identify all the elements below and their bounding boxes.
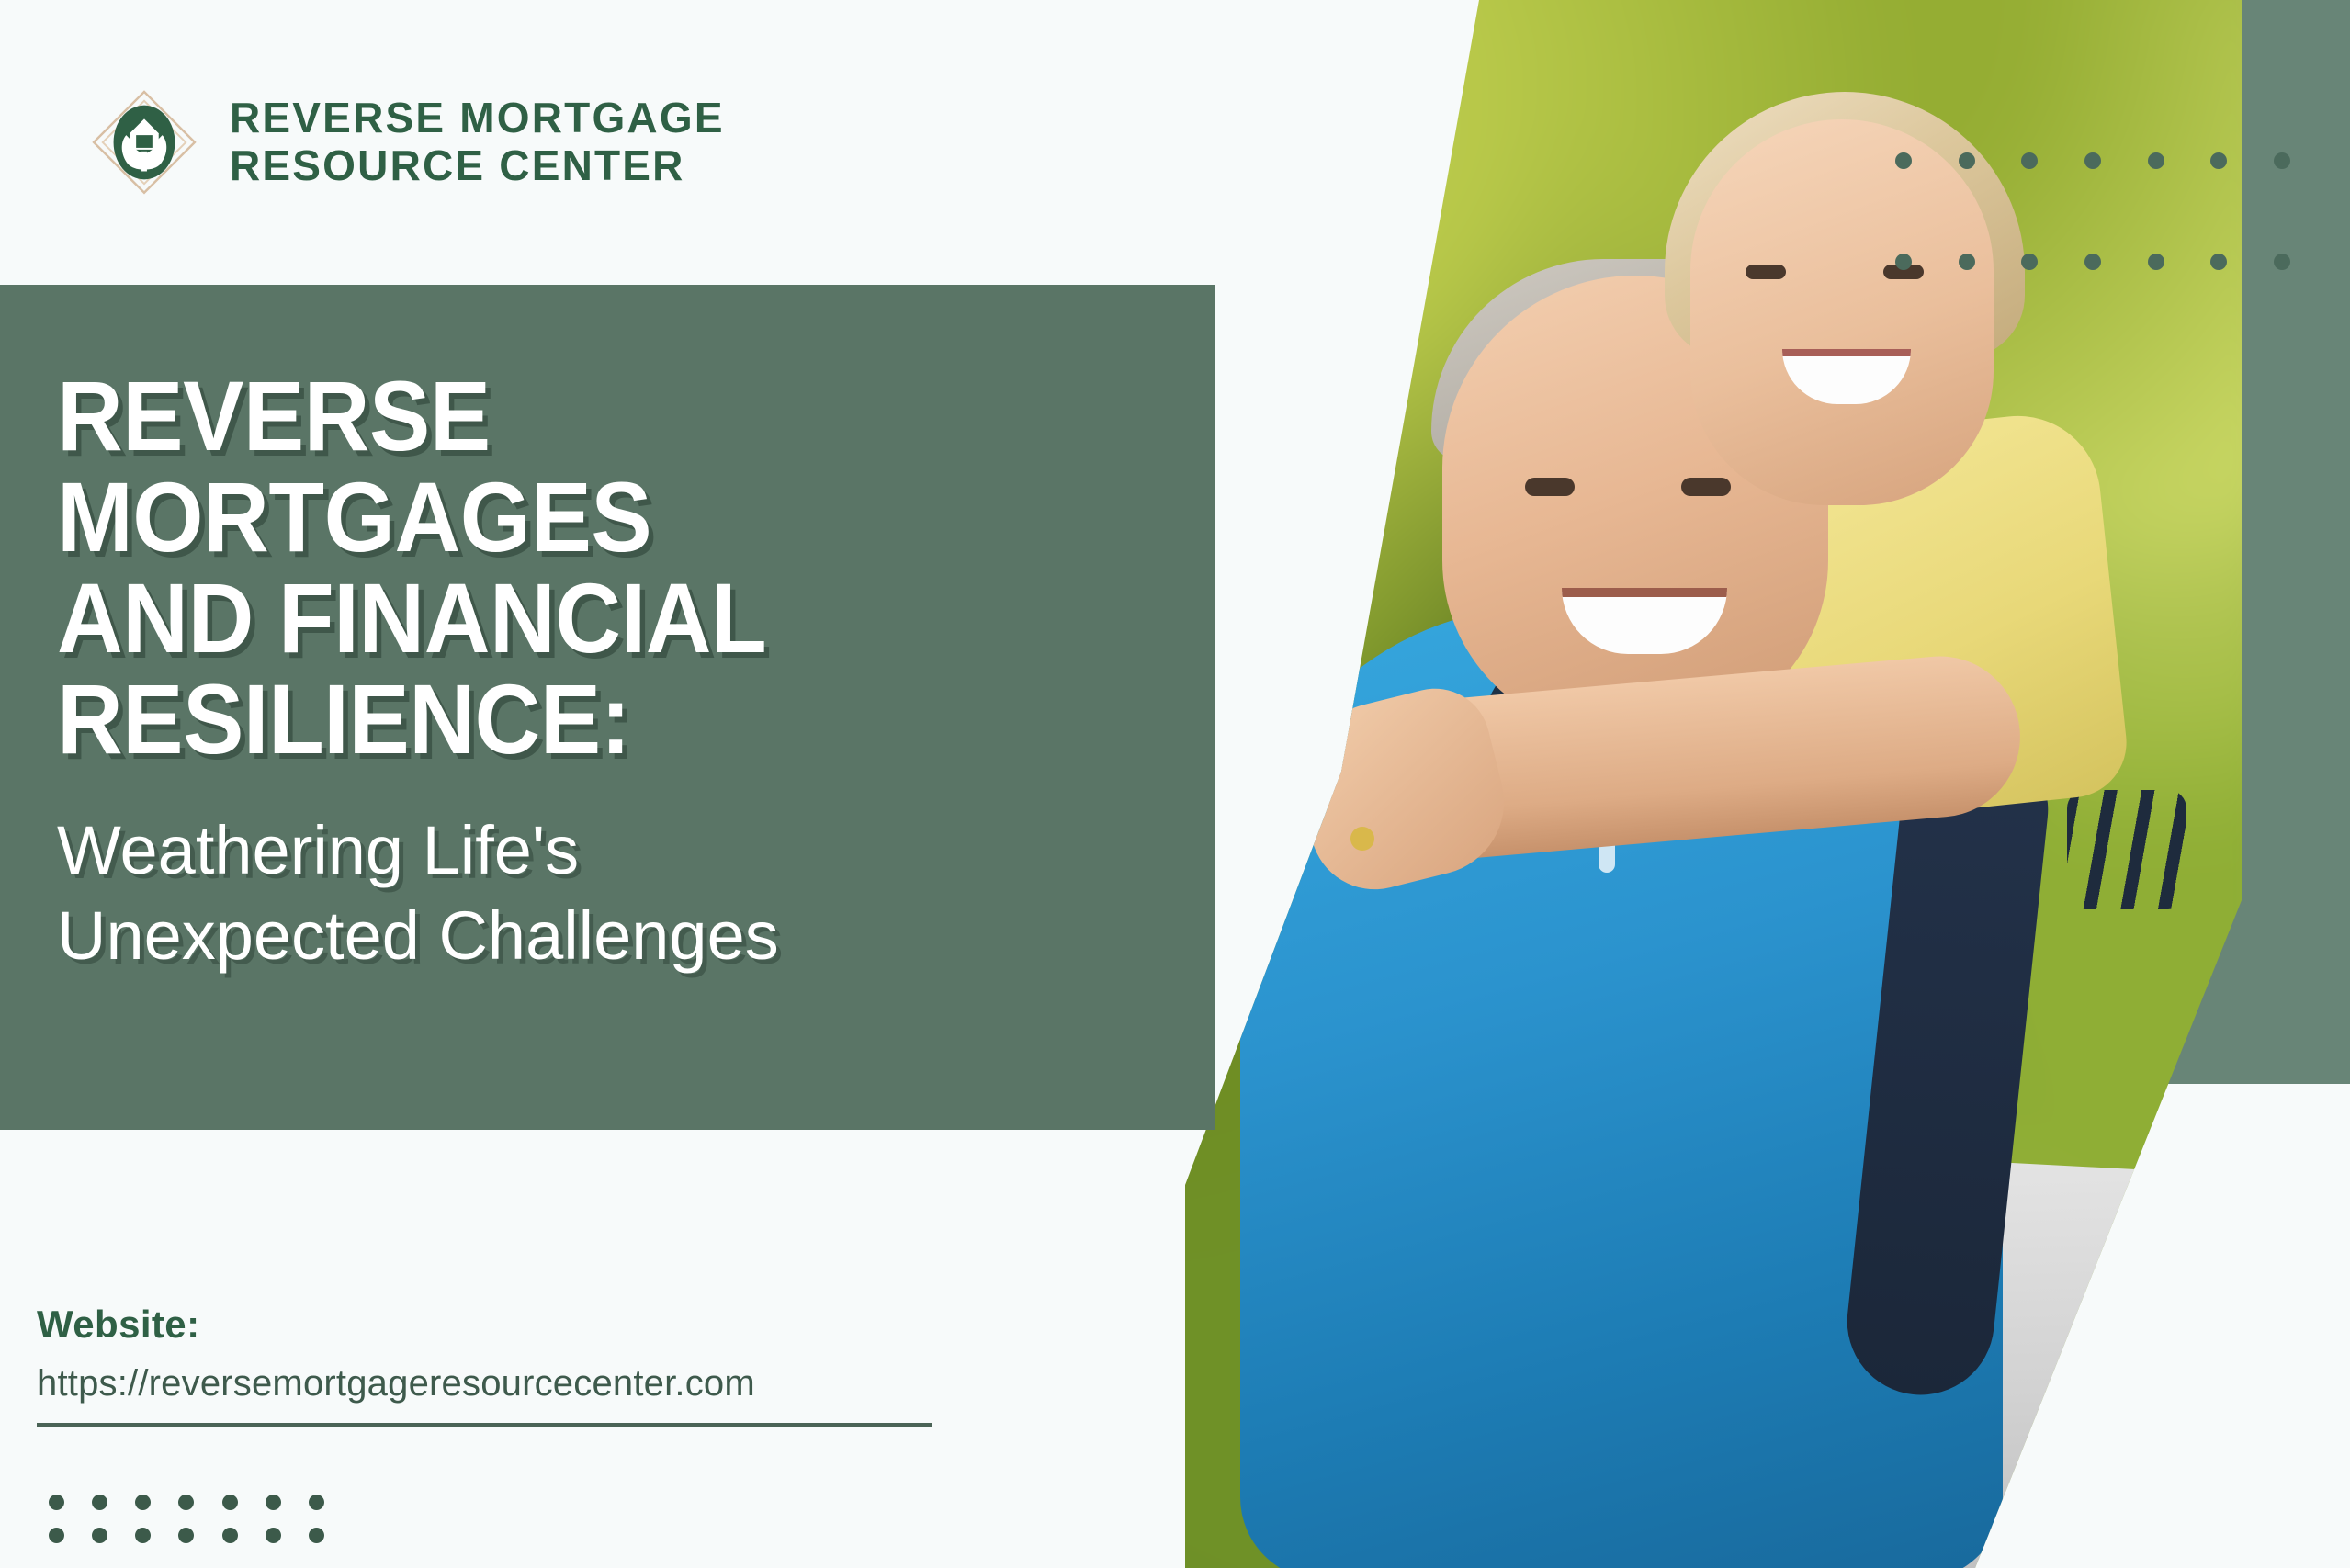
house-in-hands-diamond-logo-icon — [90, 88, 198, 197]
dot-icon — [266, 1528, 281, 1543]
dot-icon — [2274, 254, 2290, 270]
man-eye-left — [1525, 478, 1575, 496]
dot-icon — [309, 1495, 324, 1510]
dot-icon — [178, 1495, 194, 1510]
page-title: REVERSE MORTGAGES AND FINANCIAL RESILIEN… — [57, 366, 1097, 771]
poster-canvas: REVERSE MORTGAGE RESOURCE CENTER REVERSE… — [0, 0, 2350, 1568]
dot-icon — [1959, 254, 1975, 270]
ring-icon — [1350, 827, 1374, 851]
dot-icon — [309, 1528, 324, 1543]
website-label: Website: — [37, 1303, 955, 1347]
top-right-dot-grid — [1872, 110, 2313, 312]
headline-line-2: AND FINANCIAL — [57, 562, 766, 673]
brand-name-line1: REVERSE MORTGAGE — [230, 95, 725, 142]
dot-icon — [2210, 152, 2227, 169]
subtitle-line-1: Weathering Life's — [57, 812, 579, 888]
dot-icon — [2021, 152, 2038, 169]
dot-icon — [2274, 152, 2290, 169]
dot-icon — [135, 1495, 151, 1510]
dot-icon — [1895, 152, 1912, 169]
woman-eye-left — [1746, 265, 1786, 279]
dot-icon — [2084, 152, 2101, 169]
header: REVERSE MORTGAGE RESOURCE CENTER — [0, 0, 1194, 285]
divider — [37, 1423, 932, 1427]
dot-icon — [222, 1528, 238, 1543]
man-eye-right — [1681, 478, 1731, 496]
dot-icon — [2021, 254, 2038, 270]
headline-line-1: REVERSE MORTGAGES — [57, 360, 651, 572]
dot-icon — [92, 1495, 107, 1510]
bottom-left-dot-grid — [35, 1485, 338, 1551]
subtitle-line-2: Unexpected Challenges — [57, 897, 779, 974]
dot-icon — [178, 1528, 194, 1543]
dot-icon — [2148, 152, 2164, 169]
brand-name: REVERSE MORTGAGE RESOURCE CENTER — [230, 95, 725, 189]
dot-icon — [2148, 254, 2164, 270]
brand-logo[interactable]: REVERSE MORTGAGE RESOURCE CENTER — [90, 88, 725, 197]
dot-icon — [2084, 254, 2101, 270]
page-subtitle: Weathering Life's Unexpected Challenges — [57, 807, 1187, 978]
headline-line-3: RESILIENCE: — [57, 663, 630, 774]
dot-icon — [135, 1528, 151, 1543]
dot-icon — [49, 1528, 64, 1543]
hero-copy: REVERSE MORTGAGES AND FINANCIAL RESILIEN… — [57, 366, 1187, 978]
dot-icon — [1895, 254, 1912, 270]
dot-icon — [1959, 152, 1975, 169]
sleeve-stripe — [2067, 790, 2186, 909]
dot-icon — [222, 1495, 238, 1510]
dot-icon — [2210, 254, 2227, 270]
dot-icon — [266, 1495, 281, 1510]
website-block: Website: https://reversemortgageresource… — [37, 1303, 955, 1427]
website-url[interactable]: https://reversemortgageresourcecenter.co… — [37, 1363, 955, 1404]
dot-icon — [49, 1495, 64, 1510]
brand-name-line2: RESOURCE CENTER — [230, 142, 725, 190]
dot-icon — [92, 1528, 107, 1543]
